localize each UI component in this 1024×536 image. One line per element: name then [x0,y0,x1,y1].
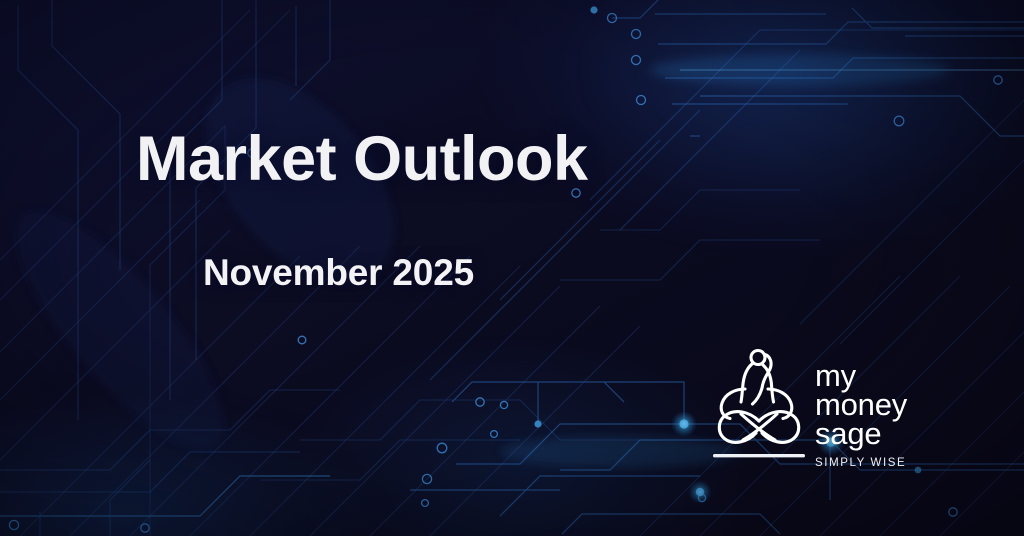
brand-wordmark: my money sage SIMPLY WISE [815,361,911,469]
page-subtitle: November 2025 [203,254,474,291]
meditating-sage-line-icon [711,345,807,463]
page-title: Market Outlook [136,128,588,191]
wordmark-line-my: my [815,361,911,390]
wordmark-line-sage: sage [815,419,911,448]
logo-underline [713,454,805,457]
headline-block: Market Outlook November 2025 [136,128,588,191]
brand-logo: my money sage SIMPLY WISE [711,345,911,470]
brand-tagline: SIMPLY WISE [815,457,911,469]
wordmark-line-money: money [815,390,911,419]
market-outlook-banner: Market Outlook November 2025 [0,0,1024,536]
